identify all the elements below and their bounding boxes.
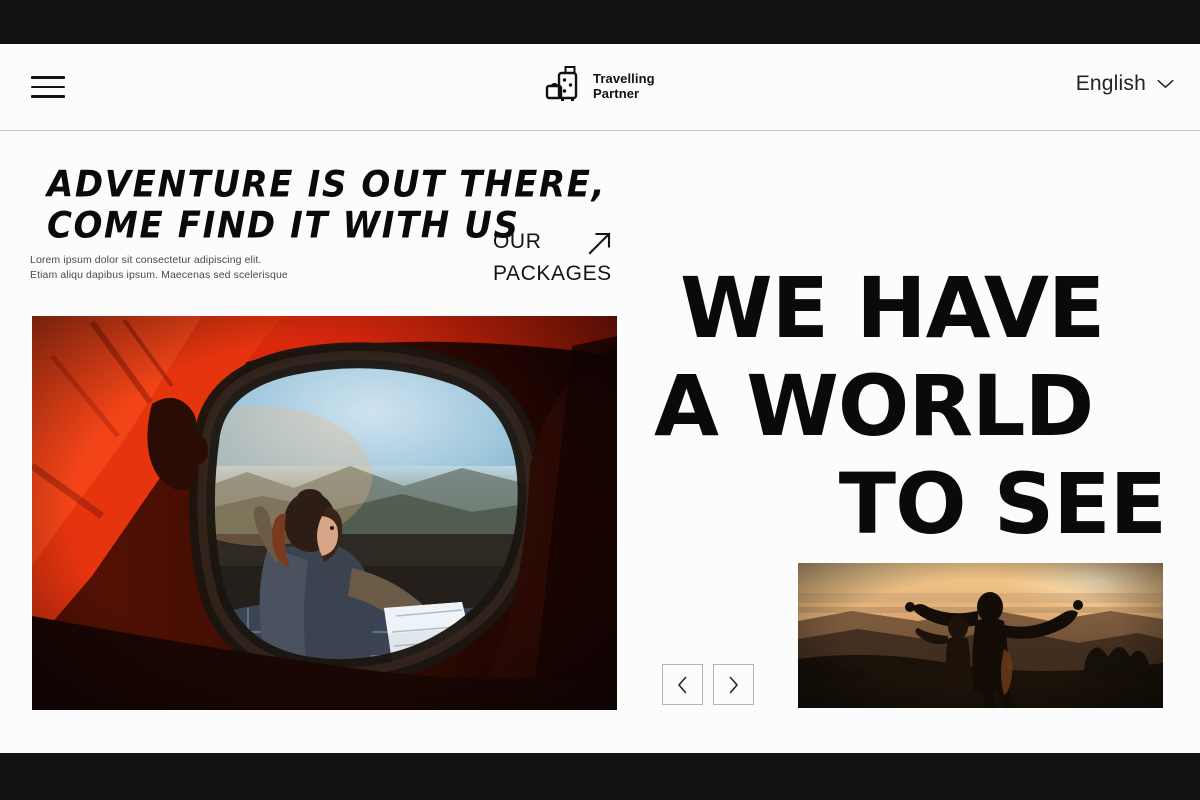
language-label: English <box>1076 72 1146 96</box>
arrow-up-right-icon <box>585 228 615 258</box>
brand-logo[interactable]: Travelling Partner <box>545 64 655 108</box>
hero-paragraph-line-2: Etiam aliqu dapibus ipsum. Maecenas sed … <box>30 269 288 281</box>
browser-chrome-top <box>0 0 1200 44</box>
hero-image-tent[interactable] <box>32 316 617 710</box>
site-header: Travelling Partner English <box>0 44 1200 131</box>
brand-name: Travelling Partner <box>593 71 655 101</box>
brand-name-line1: Travelling <box>593 71 655 86</box>
showcase-headline-line-2: A World <box>650 357 1170 455</box>
showcase-headline-line-3: To See <box>650 455 1170 553</box>
showcase-headline-line-1: We Have <box>650 259 1170 357</box>
brand-name-line2: Partner <box>593 86 655 101</box>
our-packages-label-line-2: Packages <box>493 258 625 290</box>
carousel-controls <box>662 664 754 705</box>
carousel-next-button[interactable] <box>713 664 754 705</box>
sunset-illustration <box>798 563 1163 708</box>
carousel-prev-button[interactable] <box>662 664 703 705</box>
chevron-right-icon <box>727 676 740 694</box>
hero-paragraph: Lorem ipsum dolor sit consectetur adipis… <box>30 253 360 283</box>
page-canvas: Travelling Partner English Adventure is … <box>0 44 1200 753</box>
tent-illustration <box>32 316 617 710</box>
showcase-headline: We Have A World To See <box>650 259 1170 553</box>
luggage-icon <box>545 64 585 108</box>
hamburger-bar-3 <box>31 95 65 98</box>
browser-window: Travelling Partner English Adventure is … <box>0 0 1200 800</box>
hamburger-menu-icon[interactable] <box>31 73 65 101</box>
hamburger-bar-2 <box>31 86 65 89</box>
hero-heading-line-1: Adventure is out there, <box>47 163 606 206</box>
language-selector[interactable]: English <box>1076 72 1174 96</box>
hero-paragraph-line-1: Lorem ipsum dolor sit consectetur adipis… <box>30 254 261 266</box>
our-packages-button[interactable]: Our Packages <box>493 226 625 290</box>
hamburger-bar-1 <box>31 76 65 79</box>
showcase-image-sunset[interactable] <box>798 563 1163 708</box>
chevron-down-icon <box>1157 79 1174 89</box>
chevron-left-icon <box>676 676 689 694</box>
browser-chrome-bottom <box>0 753 1200 800</box>
